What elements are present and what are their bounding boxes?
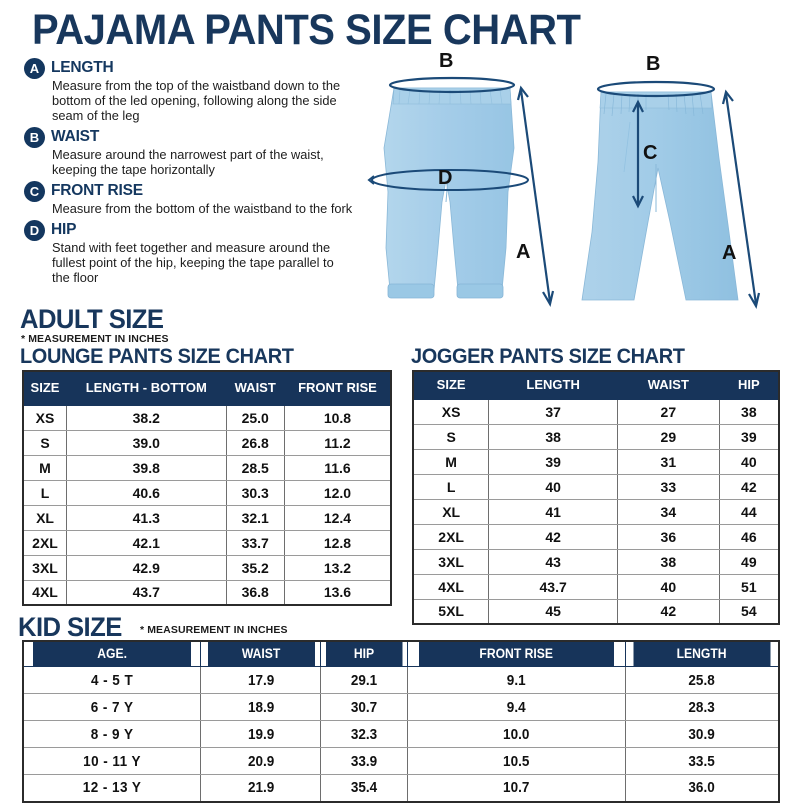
table-row: M393140 xyxy=(413,449,779,474)
table-header-row: SIZELENGTH - BOTTOMWAISTFRONT RISE xyxy=(23,371,391,405)
table-row: 5XL454254 xyxy=(413,599,779,624)
table-cell: 13.2 xyxy=(284,555,391,580)
lounge-table-head: SIZELENGTH - BOTTOMWAISTFRONT RISE xyxy=(23,371,391,405)
table-cell: 38 xyxy=(719,399,779,424)
column-header: WAIST xyxy=(207,641,315,667)
table-cell: 10.7 xyxy=(418,775,615,802)
table-cell: 13.6 xyxy=(284,580,391,605)
table-row: 3XL42.935.213.2 xyxy=(23,555,391,580)
lounge-chart-subheading: LOUNGE PANTS SIZE CHART xyxy=(20,345,294,369)
table-cell: 36.0 xyxy=(633,775,771,802)
table-cell: 19.9 xyxy=(207,721,315,748)
table-row: M39.828.511.6 xyxy=(23,455,391,480)
table-cell: 17.9 xyxy=(207,667,315,694)
jogger-table-body: XS372738S382939M393140L403342XL4134442XL… xyxy=(413,399,779,624)
table-cell: 40.6 xyxy=(67,480,227,505)
kid-table-body: 4 - 5 T17.929.19.125.86 - 7 Y18.930.79.4… xyxy=(23,667,779,802)
table-cell: 38 xyxy=(489,424,618,449)
table-cell: 40 xyxy=(617,574,719,599)
table-row: 2XL42.133.712.8 xyxy=(23,530,391,555)
badge-c-icon: C xyxy=(24,181,45,202)
table-cell: 10.5 xyxy=(418,748,615,775)
table-cell: 36 xyxy=(617,524,719,549)
table-cell: 42 xyxy=(617,599,719,624)
table-cell: 32.1 xyxy=(226,505,284,530)
table-cell: 4 - 5 T xyxy=(32,667,192,694)
table-row: S39.026.811.2 xyxy=(23,430,391,455)
table-cell: L xyxy=(23,480,67,505)
table-cell: 43.7 xyxy=(489,574,618,599)
table-cell: 39.8 xyxy=(67,455,227,480)
table-cell: 8 - 9 Y xyxy=(32,721,192,748)
guide-title-waist: WAIST xyxy=(51,128,99,146)
guide-desc-hip: Stand with feet together and measure aro… xyxy=(52,240,354,285)
table-cell: 6 - 7 Y xyxy=(32,694,192,721)
kid-size-heading: KID SIZE xyxy=(18,612,122,643)
table-cell: 38 xyxy=(617,549,719,574)
table-cell: XL xyxy=(23,505,67,530)
size-chart-page: PAJAMA PANTS SIZE CHART A LENGTH Measure… xyxy=(0,0,800,800)
table-row: 4 - 5 T17.929.19.125.8 xyxy=(23,667,779,694)
table-cell: 12.0 xyxy=(284,480,391,505)
table-cell: 25.0 xyxy=(226,405,284,430)
table-cell: 29 xyxy=(617,424,719,449)
table-cell: S xyxy=(413,424,489,449)
column-header: WAIST xyxy=(617,371,719,399)
table-cell: 37 xyxy=(489,399,618,424)
table-cell: 29.1 xyxy=(325,667,402,694)
table-cell: 41.3 xyxy=(67,505,227,530)
table-cell: 35.4 xyxy=(325,775,402,802)
table-cell: 28.3 xyxy=(633,694,771,721)
table-cell: 41 xyxy=(489,499,618,524)
table-cell: 42.9 xyxy=(67,555,227,580)
table-row: XL413444 xyxy=(413,499,779,524)
guide-item-hip: D HIP Stand with feet together and measu… xyxy=(24,220,354,285)
guide-title-hip: HIP xyxy=(51,221,76,239)
table-cell: 54 xyxy=(719,599,779,624)
table-cell: 34 xyxy=(617,499,719,524)
table-row: 2XL423646 xyxy=(413,524,779,549)
lounge-pants-table: SIZELENGTH - BOTTOMWAISTFRONT RISE XS38.… xyxy=(22,370,392,606)
table-row: L40.630.312.0 xyxy=(23,480,391,505)
table-row: 3XL433849 xyxy=(413,549,779,574)
table-cell: 39 xyxy=(719,424,779,449)
adult-size-heading: ADULT SIZE xyxy=(20,304,163,335)
guide-item-waist: B WAIST Measure around the narrowest par… xyxy=(24,127,354,177)
table-cell: XS xyxy=(23,405,67,430)
label-b-lounge: B xyxy=(646,53,660,76)
table-cell: 12.8 xyxy=(284,530,391,555)
jogger-table-head: SIZELENGTHWAISTHIP xyxy=(413,371,779,399)
badge-a-icon: A xyxy=(24,58,45,79)
table-cell: 12.4 xyxy=(284,505,391,530)
table-row: XL41.332.112.4 xyxy=(23,505,391,530)
kid-measurement-note: * MEASUREMENT IN INCHES xyxy=(140,624,288,636)
guide-title-length: LENGTH xyxy=(51,59,114,77)
table-cell: 33.7 xyxy=(226,530,284,555)
table-cell: 3XL xyxy=(23,555,67,580)
column-header: FRONT RISE xyxy=(284,371,391,405)
column-header: HIP xyxy=(325,641,402,667)
column-header: LENGTH - BOTTOM xyxy=(67,371,227,405)
table-cell: XL xyxy=(413,499,489,524)
guide-desc-waist: Measure around the narrowest part of the… xyxy=(52,147,354,177)
badge-d-icon: D xyxy=(24,220,45,241)
table-cell: 33 xyxy=(617,474,719,499)
label-a-jogger: A xyxy=(516,241,530,264)
kid-size-table: AGE.WAISTHIPFRONT RISELENGTH 4 - 5 T17.9… xyxy=(22,640,780,803)
page-title: PAJAMA PANTS SIZE CHART xyxy=(32,6,580,55)
jogger-chart-subheading: JOGGER PANTS SIZE CHART xyxy=(411,345,685,369)
label-c-lounge: C xyxy=(643,142,657,165)
table-row: L403342 xyxy=(413,474,779,499)
table-cell: XS xyxy=(413,399,489,424)
table-row: XS372738 xyxy=(413,399,779,424)
table-cell: 44 xyxy=(719,499,779,524)
table-cell: 42.1 xyxy=(67,530,227,555)
table-cell: 30.9 xyxy=(633,721,771,748)
column-header: LENGTH xyxy=(633,641,771,667)
pants-illustrations: B D A B C A xyxy=(338,52,800,314)
table-row: 4XL43.74051 xyxy=(413,574,779,599)
table-cell: 25.8 xyxy=(633,667,771,694)
jogger-pants-table: SIZELENGTHWAISTHIP XS372738S382939M39314… xyxy=(412,370,780,625)
guide-title-front-rise: FRONT RISE xyxy=(51,182,143,200)
column-header: HIP xyxy=(719,371,779,399)
table-cell: 10.8 xyxy=(284,405,391,430)
measurement-guide-list: A LENGTH Measure from the top of the wai… xyxy=(24,58,354,289)
table-cell: 9.1 xyxy=(418,667,615,694)
table-cell: 43 xyxy=(489,549,618,574)
table-cell: 46 xyxy=(719,524,779,549)
guide-item-front-rise: C FRONT RISE Measure from the bottom of … xyxy=(24,181,354,216)
table-row: 6 - 7 Y18.930.79.428.3 xyxy=(23,694,779,721)
lounge-pants-shape xyxy=(582,92,738,300)
table-cell: L xyxy=(413,474,489,499)
table-cell: 40 xyxy=(489,474,618,499)
column-header: WAIST xyxy=(226,371,284,405)
table-cell: 32.3 xyxy=(325,721,402,748)
table-row: XS38.225.010.8 xyxy=(23,405,391,430)
table-cell: 35.2 xyxy=(226,555,284,580)
guide-desc-length: Measure from the top of the waistband do… xyxy=(52,78,354,123)
table-header-row: AGE.WAISTHIPFRONT RISELENGTH xyxy=(23,641,779,667)
kid-table-head: AGE.WAISTHIPFRONT RISELENGTH xyxy=(23,641,779,667)
lounge-pants-table-container: SIZELENGTH - BOTTOMWAISTFRONT RISE XS38.… xyxy=(22,370,392,606)
table-cell: 30.3 xyxy=(226,480,284,505)
table-cell: 2XL xyxy=(23,530,67,555)
table-cell: 49 xyxy=(719,549,779,574)
table-cell: 9.4 xyxy=(418,694,615,721)
table-cell: 27 xyxy=(617,399,719,424)
adult-measurement-note: * MEASUREMENT IN INCHES xyxy=(21,333,169,345)
table-cell: 39 xyxy=(489,449,618,474)
lounge-table-body: XS38.225.010.8S39.026.811.2M39.828.511.6… xyxy=(23,405,391,605)
table-cell: 33.5 xyxy=(633,748,771,775)
table-cell: 39.0 xyxy=(67,430,227,455)
table-header-row: SIZELENGTHWAISTHIP xyxy=(413,371,779,399)
table-cell: 45 xyxy=(489,599,618,624)
table-row: 4XL43.736.813.6 xyxy=(23,580,391,605)
jogger-pants-table-container: SIZELENGTHWAISTHIP XS372738S382939M39314… xyxy=(412,370,780,625)
table-cell: 26.8 xyxy=(226,430,284,455)
table-cell: 5XL xyxy=(413,599,489,624)
table-cell: 43.7 xyxy=(67,580,227,605)
table-row: 8 - 9 Y19.932.310.030.9 xyxy=(23,721,779,748)
guide-item-length: A LENGTH Measure from the top of the wai… xyxy=(24,58,354,123)
kid-size-table-container: AGE.WAISTHIPFRONT RISELENGTH 4 - 5 T17.9… xyxy=(22,640,780,803)
table-cell: 3XL xyxy=(413,549,489,574)
jogger-length-arrow xyxy=(518,88,553,304)
table-cell: 42 xyxy=(489,524,618,549)
table-cell: S xyxy=(23,430,67,455)
table-cell: 33.9 xyxy=(325,748,402,775)
table-cell: 42 xyxy=(719,474,779,499)
table-cell: 10 - 11 Y xyxy=(32,748,192,775)
table-cell: 11.6 xyxy=(284,455,391,480)
column-header: LENGTH xyxy=(489,371,618,399)
table-cell: 11.2 xyxy=(284,430,391,455)
table-cell: 21.9 xyxy=(207,775,315,802)
table-row: S382939 xyxy=(413,424,779,449)
column-header: FRONT RISE xyxy=(418,641,615,667)
table-cell: 12 - 13 Y xyxy=(32,775,192,802)
table-cell: 36.8 xyxy=(226,580,284,605)
label-b-jogger: B xyxy=(439,50,453,73)
column-header: SIZE xyxy=(23,371,67,405)
table-cell: 4XL xyxy=(413,574,489,599)
badge-b-icon: B xyxy=(24,127,45,148)
table-cell: 31 xyxy=(617,449,719,474)
table-cell: M xyxy=(23,455,67,480)
table-row: 10 - 11 Y20.933.910.533.5 xyxy=(23,748,779,775)
label-d-jogger: D xyxy=(438,167,452,190)
table-row: 12 - 13 Y21.935.410.736.0 xyxy=(23,775,779,802)
guide-desc-front-rise: Measure from the bottom of the waistband… xyxy=(52,201,354,216)
column-header: SIZE xyxy=(413,371,489,399)
table-cell: 2XL xyxy=(413,524,489,549)
table-cell: 38.2 xyxy=(67,405,227,430)
table-cell: M xyxy=(413,449,489,474)
table-cell: 51 xyxy=(719,574,779,599)
table-cell: 18.9 xyxy=(207,694,315,721)
column-header: AGE. xyxy=(32,641,192,667)
jogger-pants-shape xyxy=(384,88,514,298)
table-cell: 10.0 xyxy=(418,721,615,748)
label-a-lounge: A xyxy=(722,242,736,265)
pants-diagram-svg xyxy=(338,52,800,314)
table-cell: 30.7 xyxy=(325,694,402,721)
table-cell: 40 xyxy=(719,449,779,474)
table-cell: 4XL xyxy=(23,580,67,605)
table-cell: 20.9 xyxy=(207,748,315,775)
table-cell: 28.5 xyxy=(226,455,284,480)
